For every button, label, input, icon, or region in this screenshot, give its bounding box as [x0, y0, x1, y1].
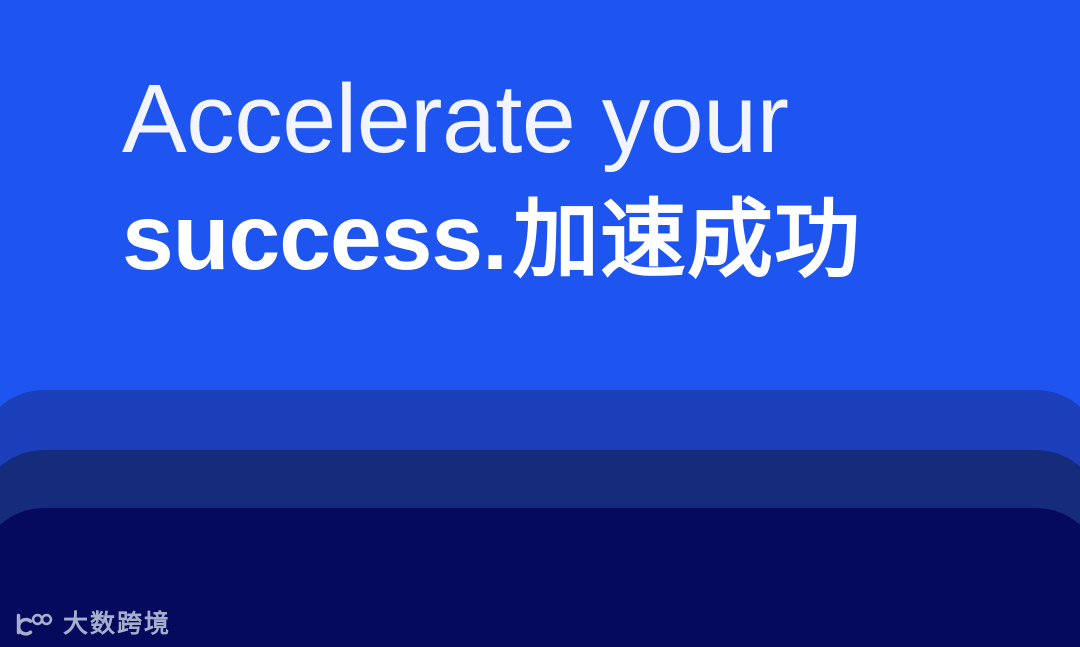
slide-canvas: Accelerate your success.加速成功 大数跨境: [0, 0, 1080, 647]
headline-line-1: Accelerate your: [122, 60, 982, 178]
watermark-text: 大数跨境: [63, 609, 171, 639]
watermark: 大数跨境: [12, 609, 171, 639]
dashu-kuajing-logo-icon: [12, 609, 54, 639]
headline-line-2: success.加速成功: [122, 178, 982, 299]
headline-block: Accelerate your success.加速成功: [122, 60, 982, 299]
headline-cjk-jiasuchenggong: 加速成功: [507, 192, 861, 288]
headline-latin-success: success.: [122, 185, 507, 289]
